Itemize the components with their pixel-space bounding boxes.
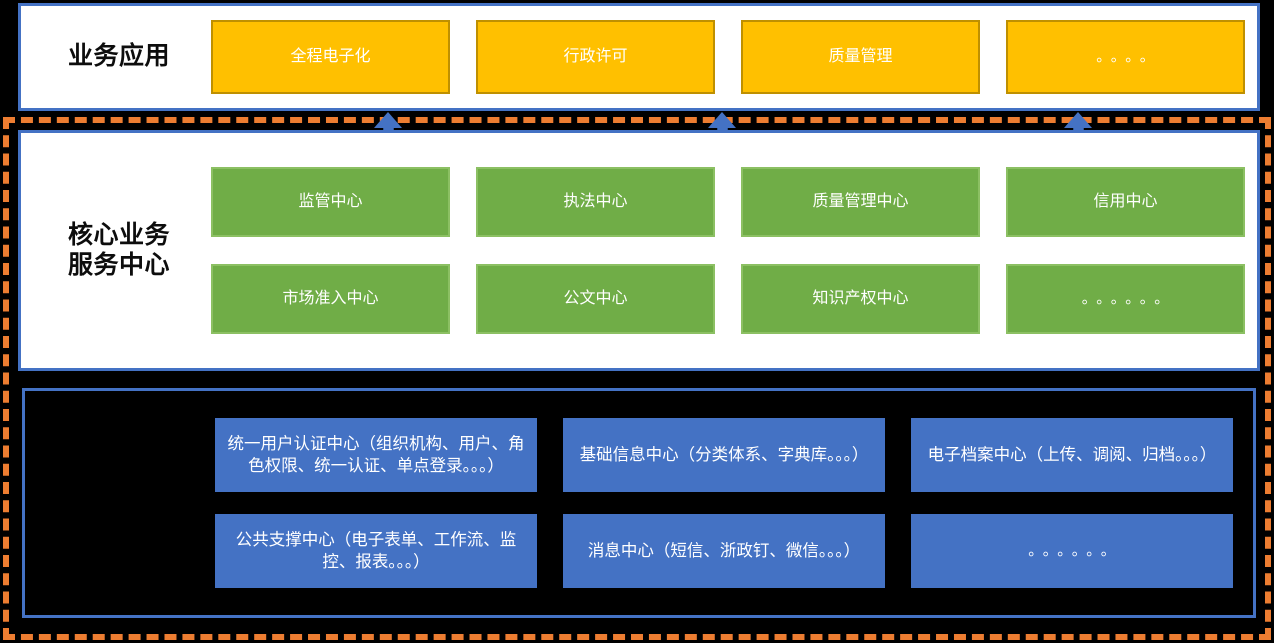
business-application-cards: 全程电子化 行政许可 质量管理 。。。。 [211,20,1257,94]
app-card-more-placeholder[interactable]: 。。。。 [1006,20,1245,94]
app-card-label: 全程电子化 [290,47,370,67]
tier-label-core-business-service-center: 核心业务 服务中心 [21,221,211,280]
support-card-label: 基础信息中心（分类体系、字典库。。。） [580,444,869,466]
ellipsis-dots: 。。。。。。 [1021,541,1123,561]
core-card-label: 公文中心 [563,289,627,309]
core-card-label: 信用中心 [1093,192,1157,212]
core-card-law-enforcement-center[interactable]: 执法中心 [476,167,715,237]
ellipsis-dots: 。。。。。。 [1075,289,1177,308]
app-card-quality-management[interactable]: 质量管理 [741,20,980,94]
support-card-more-placeholder[interactable]: 。。。。。。 [911,514,1233,588]
core-service-center-row-2: 市场准入中心 公文中心 知识产权中心 。。。。。。 [211,264,1245,334]
support-card-unified-user-authentication-center[interactable]: 统一用户认证中心（组织机构、用户、角色权限、统一认证、单点登录。。。） [215,418,537,492]
core-card-intellectual-property-center[interactable]: 知识产权中心 [741,264,980,334]
core-card-label: 市场准入中心 [282,289,378,309]
core-card-supervision-center[interactable]: 监管中心 [211,167,450,237]
tier-core-business-service-center: 核心业务 服务中心 监管中心 执法中心 质量管理中心 信用中心 市场准入中心 [18,130,1260,371]
core-card-label: 质量管理中心 [812,192,908,212]
core-service-center-row-1: 监管中心 执法中心 质量管理中心 信用中心 [211,167,1245,237]
tier-business-applications: 业务应用 全程电子化 行政许可 质量管理 。。。。 [18,3,1260,111]
core-card-more-placeholder[interactable]: 。。。。。。 [1006,264,1245,334]
support-card-electronic-archive-center[interactable]: 电子档案中心（上传、调阅、归档。。。） [911,418,1233,492]
support-card-basic-information-center[interactable]: 基础信息中心（分类体系、字典库。。。） [563,418,885,492]
app-card-administrative-licensing[interactable]: 行政许可 [476,20,715,94]
support-card-label: 电子档案中心（上传、调阅、归档。。。） [928,444,1217,466]
ellipsis-dots: 。。。。 [1089,47,1162,66]
tier-support-platform: 统一用户认证中心（组织机构、用户、角色权限、统一认证、单点登录。。。） 基础信息… [22,388,1256,618]
support-card-label: 统一用户认证中心（组织机构、用户、角色权限、统一认证、单点登录。。。） [223,433,529,477]
arrow-head [374,112,402,128]
support-platform-cards: 统一用户认证中心（组织机构、用户、角色权限、统一认证、单点登录。。。） 基础信息… [215,418,1253,588]
support-card-label: 消息中心（短信、浙政钉、微信。。。） [588,540,860,562]
support-platform-row-2: 公共支撑中心（电子表单、工作流、监控、报表。。。） 消息中心（短信、浙政钉、微信… [215,514,1233,588]
app-card-label: 行政许可 [563,47,627,67]
core-card-label: 执法中心 [563,192,627,212]
tier-label-business-applications: 业务应用 [21,42,211,72]
app-card-label: 质量管理 [828,47,892,67]
core-service-center-cards: 监管中心 执法中心 质量管理中心 信用中心 市场准入中心 公文中心 [211,167,1257,334]
core-card-credit-center[interactable]: 信用中心 [1006,167,1245,237]
core-card-market-access-center[interactable]: 市场准入中心 [211,264,450,334]
core-card-quality-management-center[interactable]: 质量管理中心 [741,167,980,237]
support-card-label: 公共支撑中心（电子表单、工作流、监控、报表。。。） [223,529,529,573]
support-card-public-support-center[interactable]: 公共支撑中心（电子表单、工作流、监控、报表。。。） [215,514,537,588]
arrow-head [708,112,736,128]
core-card-label: 监管中心 [298,192,362,212]
app-card-full-process-digitization[interactable]: 全程电子化 [211,20,450,94]
core-card-label: 知识产权中心 [812,289,908,309]
support-card-message-center[interactable]: 消息中心（短信、浙政钉、微信。。。） [563,514,885,588]
core-card-official-document-center[interactable]: 公文中心 [476,264,715,334]
arrow-head [1064,112,1092,128]
architecture-diagram: 业务应用 全程电子化 行政许可 质量管理 。。。。 核心业 [0,0,1274,643]
support-platform-row-1: 统一用户认证中心（组织机构、用户、角色权限、统一认证、单点登录。。。） 基础信息… [215,418,1233,492]
